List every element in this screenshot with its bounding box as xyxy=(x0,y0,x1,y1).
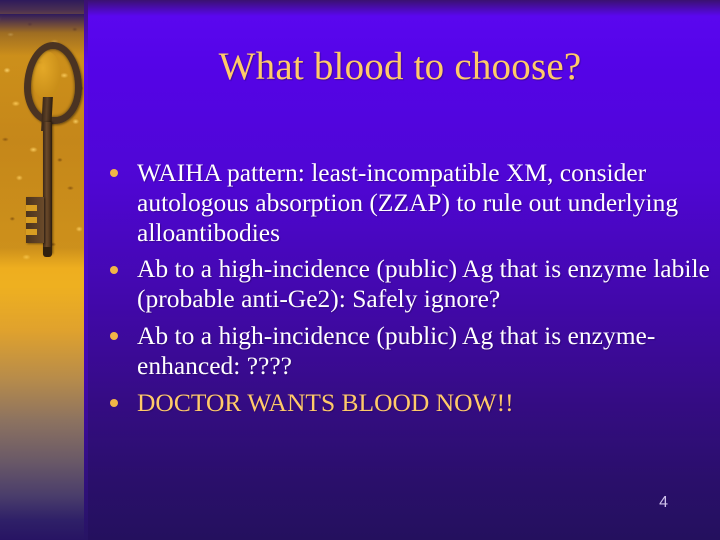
sidebar-edge xyxy=(84,0,88,540)
bullet-dot-icon xyxy=(110,266,118,274)
list-item-text: Ab to a high-incidence (public) Ag that … xyxy=(137,321,655,380)
list-item: DOCTOR WANTS BLOOD NOW!! xyxy=(101,388,713,418)
list-item-text: WAIHA pattern: least-incompatible XM, co… xyxy=(137,158,678,247)
list-item: Ab to a high-incidence (public) Ag that … xyxy=(101,321,713,381)
page-number: 4 xyxy=(659,494,668,512)
key-bow xyxy=(24,42,82,124)
skeleton-key-icon xyxy=(18,42,74,257)
slide: What blood to choose? WAIHA pattern: lea… xyxy=(0,0,720,540)
list-item: WAIHA pattern: least-incompatible XM, co… xyxy=(101,158,713,247)
list-item-text: DOCTOR WANTS BLOOD NOW!! xyxy=(137,388,514,417)
list-item-text: Ab to a high-incidence (public) Ag that … xyxy=(137,254,710,313)
key-tip xyxy=(43,247,52,257)
slide-title: What blood to choose? xyxy=(100,46,700,89)
sidebar-decoration xyxy=(0,0,88,540)
bullet-dot-icon xyxy=(110,332,118,340)
list-item: Ab to a high-incidence (public) Ag that … xyxy=(101,254,713,314)
bullet-dot-icon xyxy=(110,399,118,407)
bullet-list: WAIHA pattern: least-incompatible XM, co… xyxy=(101,158,713,425)
key-tooth xyxy=(26,205,37,211)
key-tooth xyxy=(26,217,37,223)
key-tooth xyxy=(26,229,37,235)
bullet-dot-icon xyxy=(110,169,118,177)
key-shaft xyxy=(43,122,52,254)
